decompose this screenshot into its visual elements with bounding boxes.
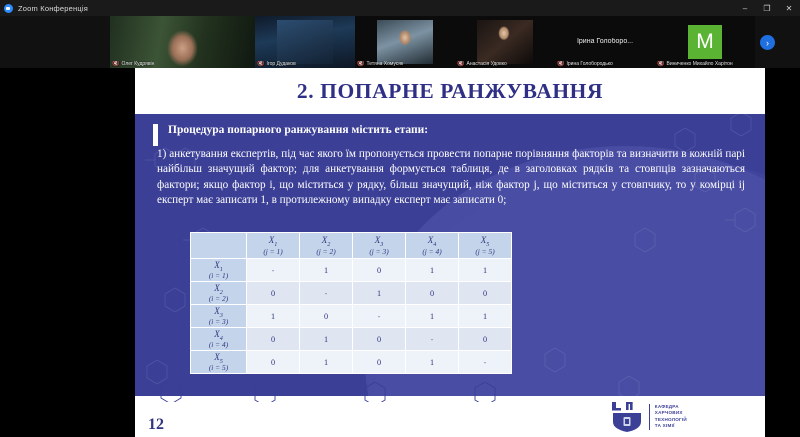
participant-name: Анастасія Удовко (466, 61, 506, 67)
participant-name: Ігор Дудаков (266, 61, 295, 67)
participant-name: Олег Кудрявін (121, 61, 154, 67)
participant-tile[interactable]: 🔇 Тетяна Хомусяк (355, 16, 455, 68)
participant-tile[interactable]: 🔇 Олег Кудрявін (110, 16, 255, 68)
participant-name-badge: 🔇 Ігор Дудаков (257, 61, 296, 67)
page-number: 12 (148, 416, 164, 434)
table-header-row: X1 (j = 1) X2 (j = 2) X3 (j = 3) (191, 233, 512, 259)
logo-text: КАФЕДРА ХАРЧОВИХ ТЕХНОЛОГІЙ ТА ХІМІЇ (655, 404, 687, 429)
table-row: X5 (i = 5) 0 1 0 1 - (191, 351, 512, 374)
mic-muted-icon: 🔇 (357, 61, 364, 67)
table-cell: 0 (300, 305, 353, 328)
table-column-header: X5 (j = 5) (459, 233, 512, 259)
zoom-window: Zoom Конференція – ❐ ✕ 🔇 Олег Кудрявін 🔇… (0, 0, 800, 437)
logo-line: ТА ХІМІЇ (655, 423, 687, 429)
table-cell: 1 (459, 305, 512, 328)
gallery-next-button[interactable]: › (760, 35, 775, 50)
mic-muted-icon: 🔇 (557, 61, 564, 67)
participant-gallery: 🔇 Олег Кудрявін 🔇 Ігор Дудаков 🔇 Тетяна … (0, 16, 800, 68)
pairwise-table-wrapper: X1 (j = 1) X2 (j = 2) X3 (j = 3) (190, 232, 512, 374)
mic-muted-icon: 🔇 (257, 61, 264, 67)
table-corner-cell (191, 233, 247, 259)
mic-muted-icon: 🔇 (457, 61, 464, 67)
table-cell: - (353, 305, 406, 328)
window-controls: – ❐ ✕ (734, 0, 800, 16)
table-cell: 1 (353, 282, 406, 305)
table-row-header: X1 (i = 1) (191, 259, 247, 282)
mic-muted-icon: 🔇 (657, 61, 664, 67)
table-row: X1 (i = 1) - 1 0 1 1 (191, 259, 512, 282)
participant-name: Виниченко Михайло Харітон (666, 61, 732, 67)
table-cell: 1 (300, 328, 353, 351)
table-cell: 1 (406, 351, 459, 374)
participant-tile[interactable]: M 🔇 Виниченко Михайло Харітон (655, 16, 755, 68)
table-row: X2 (i = 2) 0 - 1 0 0 (191, 282, 512, 305)
table-cell: 0 (459, 328, 512, 351)
table-row-header: X3 (i = 3) (191, 305, 247, 328)
body-heading: Процедура попарного ранжування містить е… (168, 124, 428, 136)
table-cell: 0 (247, 351, 300, 374)
table-cell: 1 (406, 305, 459, 328)
table-cell: - (459, 351, 512, 374)
table-cell: 1 (459, 259, 512, 282)
table-cell: 1 (300, 351, 353, 374)
department-logo: КАФЕДРА ХАРЧОВИХ ТЕХНОЛОГІЙ ТА ХІМІЇ (610, 401, 687, 432)
participant-name-badge: 🔇 Ірина Голобородько (557, 61, 613, 67)
table-row-header: X2 (i = 2) (191, 282, 247, 305)
participant-name-badge: 🔇 Анастасія Удовко (457, 61, 507, 67)
pairwise-ranking-table: X1 (j = 1) X2 (j = 2) X3 (j = 3) (190, 232, 512, 374)
table-row-header: X5 (i = 5) (191, 351, 247, 374)
table-cell: 0 (406, 282, 459, 305)
shared-screen: 2. ПОПАРНЕ РАНЖУВАННЯ (0, 68, 800, 437)
participant-tile[interactable]: Ірина Голоборо... 🔇 Ірина Голобородько (555, 16, 655, 68)
logo-divider (649, 404, 650, 430)
table-row: X3 (i = 3) 1 0 - 1 1 (191, 305, 512, 328)
participant-name-badge: 🔇 Олег Кудрявін (112, 61, 154, 67)
body-paragraph: 1) анкетування експертів, під час якого … (157, 147, 745, 209)
table-cell: - (247, 259, 300, 282)
slide-footer: 12 КАФЕДРА ХАРЧОВИ (135, 396, 765, 437)
participant-tile[interactable]: 🔇 Анастасія Удовко (455, 16, 555, 68)
mic-muted-icon: 🔇 (112, 61, 119, 67)
window-title: Zoom Конференція (18, 4, 88, 13)
participant-name-badge: 🔇 Тетяна Хомусяк (357, 61, 403, 67)
table-cell: 1 (247, 305, 300, 328)
participant-name: Ірина Голобородько (566, 61, 612, 67)
table-column-header: X1 (j = 1) (247, 233, 300, 259)
close-button[interactable]: ✕ (778, 0, 800, 16)
table-row: X4 (i = 4) 0 1 0 - 0 (191, 328, 512, 351)
slide-body: Процедура попарного ранжування містить е… (135, 114, 765, 396)
slide-title-band: 2. ПОПАРНЕ РАНЖУВАННЯ (135, 68, 765, 114)
window-titlebar: Zoom Конференція – ❐ ✕ (0, 0, 800, 16)
table-cell: 0 (353, 259, 406, 282)
footer-hexagon-pattern (135, 382, 765, 402)
slide-title: 2. ПОПАРНЕ РАНЖУВАННЯ (297, 79, 603, 104)
university-shield-logo-icon (610, 401, 644, 432)
table-cell: 0 (353, 328, 406, 351)
table-row-header: X4 (i = 4) (191, 328, 247, 351)
avatar: M (688, 25, 722, 59)
table-cell: 1 (406, 259, 459, 282)
table-cell: 0 (459, 282, 512, 305)
zoom-icon (4, 4, 13, 13)
accent-bar (153, 124, 158, 146)
participant-tile[interactable]: 🔇 Ігор Дудаков (255, 16, 355, 68)
table-cell: 0 (247, 282, 300, 305)
presentation-slide: 2. ПОПАРНЕ РАНЖУВАННЯ (135, 68, 765, 437)
table-cell: 1 (300, 259, 353, 282)
table-cell: - (300, 282, 353, 305)
table-column-header: X3 (j = 3) (353, 233, 406, 259)
logo-line: ХАРЧОВИХ (655, 410, 687, 416)
table-cell: 0 (247, 328, 300, 351)
table-column-header: X2 (j = 2) (300, 233, 353, 259)
table-cell: 0 (353, 351, 406, 374)
table-cell: - (406, 328, 459, 351)
minimize-button[interactable]: – (734, 0, 756, 16)
participant-display-name: Ірина Голоборо... (555, 38, 655, 45)
logo-line: ТЕХНОЛОГІЙ (655, 417, 687, 423)
table-column-header: X4 (j = 4) (406, 233, 459, 259)
maximize-button[interactable]: ❐ (756, 0, 778, 16)
participant-name: Тетяна Хомусяк (366, 61, 403, 67)
participant-name-badge: 🔇 Виниченко Михайло Харітон (657, 61, 733, 67)
